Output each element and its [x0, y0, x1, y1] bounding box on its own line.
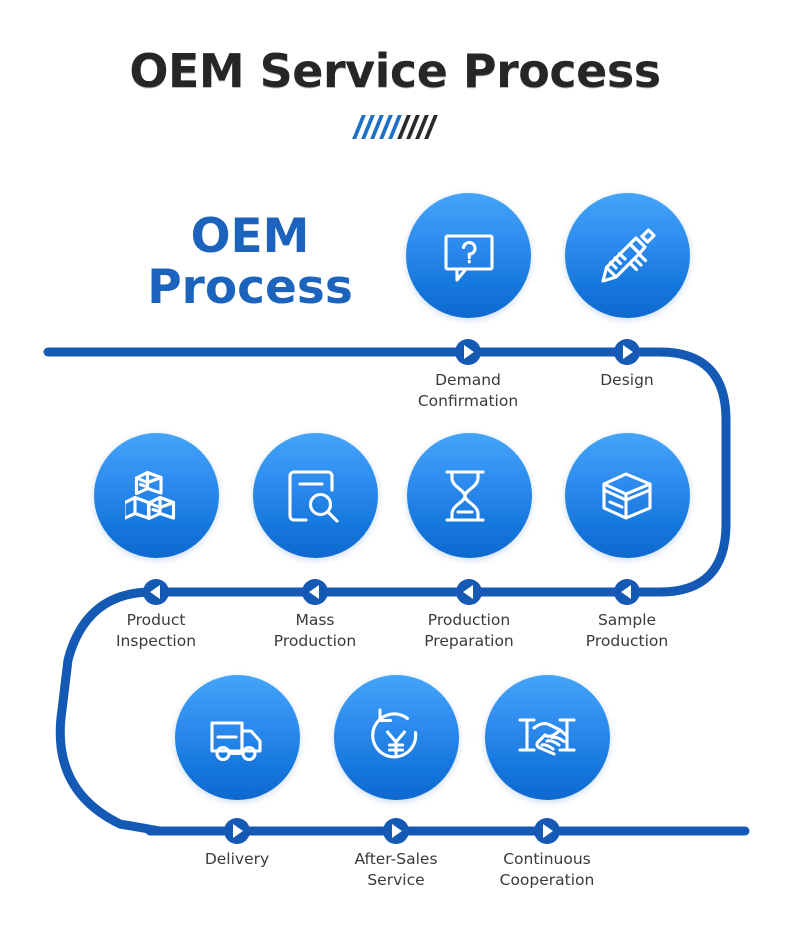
process-step-label-4: Production Preparation: [389, 610, 549, 652]
slash-divider: [330, 112, 460, 142]
stacked-boxes-icon: [125, 464, 187, 526]
flow-arrow-marker-8: [383, 818, 409, 844]
oem-process-label: OEM Process: [110, 212, 390, 314]
process-step-label-7: Delivery: [157, 849, 317, 870]
process-step-circle-9[interactable]: [485, 675, 610, 800]
process-step-circle-7[interactable]: [175, 675, 300, 800]
oem-process-label-line2: Process: [110, 263, 390, 314]
process-step-circle-5[interactable]: [253, 433, 378, 558]
flow-arrow-marker-4: [456, 579, 482, 605]
flow-arrow-marker-9: [534, 818, 560, 844]
process-step-circle-8[interactable]: [334, 675, 459, 800]
flow-arrow-marker-2: [614, 339, 640, 365]
process-step-label-9: Continuous Cooperation: [467, 849, 627, 891]
process-step-circle-3[interactable]: [565, 433, 690, 558]
flow-arrow-marker-6: [143, 579, 169, 605]
process-step-circle-2[interactable]: [565, 193, 690, 318]
hourglass-icon: [438, 464, 500, 526]
flow-arrow-marker-7: [224, 818, 250, 844]
flow-arrow-marker-1: [455, 339, 481, 365]
process-step-circle-4[interactable]: [407, 433, 532, 558]
process-step-label-1: Demand Confirmation: [388, 370, 548, 412]
process-step-label-8: After-Sales Service: [316, 849, 476, 891]
header: OEM Service Process: [0, 0, 790, 142]
process-step-label-6: Product Inspection: [76, 610, 236, 652]
page-title: OEM Service Process: [0, 0, 790, 98]
process-step-label-3: Sample Production: [547, 610, 707, 652]
delivery-truck-icon: [206, 706, 268, 768]
process-step-label-2: Design: [547, 370, 707, 391]
process-step-label-5: Mass Production: [235, 610, 395, 652]
oem-process-label-line1: OEM: [110, 212, 390, 263]
refund-yen-icon: [365, 706, 427, 768]
flow-arrow-marker-5: [302, 579, 328, 605]
document-search-icon: [284, 464, 346, 526]
speech-bubble-question-icon: [437, 224, 499, 286]
pencil-ruler-icon: [596, 224, 658, 286]
handshake-icon: [516, 706, 578, 768]
flow-arrow-marker-3: [614, 579, 640, 605]
process-step-circle-1[interactable]: [406, 193, 531, 318]
carton-box-icon: [596, 464, 658, 526]
process-step-circle-6[interactable]: [94, 433, 219, 558]
